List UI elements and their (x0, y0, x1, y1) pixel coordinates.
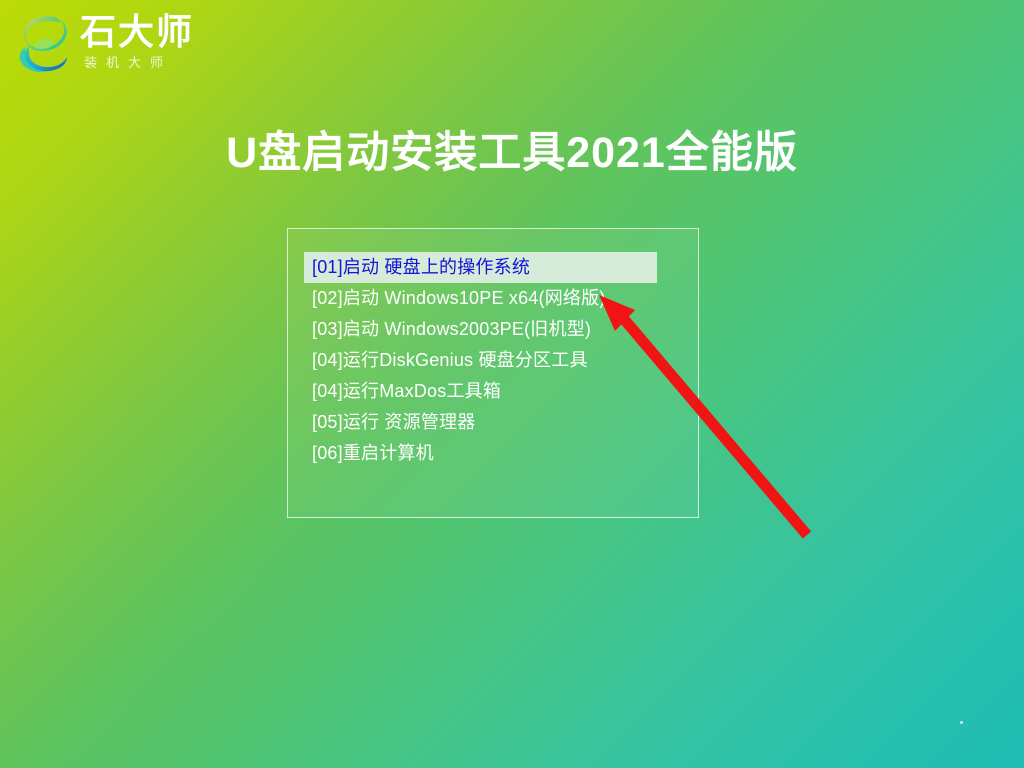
boot-menu-item-label: [02]启动 Windows10PE x64(网络版) (312, 288, 606, 308)
boot-menu-panel: [01]启动 硬盘上的操作系统 [02]启动 Windows10PE x64(网… (287, 228, 699, 518)
boot-menu-item-02[interactable]: [02]启动 Windows10PE x64(网络版) (304, 283, 682, 314)
page-title: U盘启动安装工具2021全能版 (0, 118, 1024, 180)
brand-text: 石大师 装机大师 (80, 10, 270, 72)
boot-menu-list: [01]启动 硬盘上的操作系统 [02]启动 Windows10PE x64(网… (288, 229, 698, 469)
boot-menu-item-04-maxdos[interactable]: [04]运行MaxDos工具箱 (304, 376, 682, 407)
brand-subtitle: 装机大师 (80, 54, 270, 72)
boot-menu-item-03[interactable]: [03]启动 Windows2003PE(旧机型) (304, 314, 682, 345)
boot-menu-item-04-diskgenius[interactable]: [04]运行DiskGenius 硬盘分区工具 (304, 345, 682, 376)
boot-menu-item-label: [05]运行 资源管理器 (312, 412, 475, 432)
boot-menu-item-01[interactable]: [01]启动 硬盘上的操作系统 (304, 252, 657, 283)
brand-logo: 石大师 装机大师 (14, 6, 274, 82)
boot-menu-screen: 石大师 装机大师 U盘启动安装工具2021全能版 [01]启动 硬盘上的操作系统… (0, 0, 1024, 768)
boot-menu-item-label: [01]启动 硬盘上的操作系统 (312, 257, 530, 277)
boot-menu-item-label: [06]重启计算机 (312, 443, 434, 463)
boot-menu-item-label: [04]运行DiskGenius 硬盘分区工具 (312, 350, 588, 370)
shi-dashi-s-logo-icon (14, 13, 76, 75)
boot-menu-item-label: [03]启动 Windows2003PE(旧机型) (312, 319, 591, 339)
boot-menu-item-label: [04]运行MaxDos工具箱 (312, 381, 501, 401)
boot-menu-item-06[interactable]: [06]重启计算机 (304, 438, 682, 469)
brand-title: 石大师 (80, 10, 270, 54)
cursor-dot (960, 721, 963, 724)
boot-menu-item-05[interactable]: [05]运行 资源管理器 (304, 407, 682, 438)
